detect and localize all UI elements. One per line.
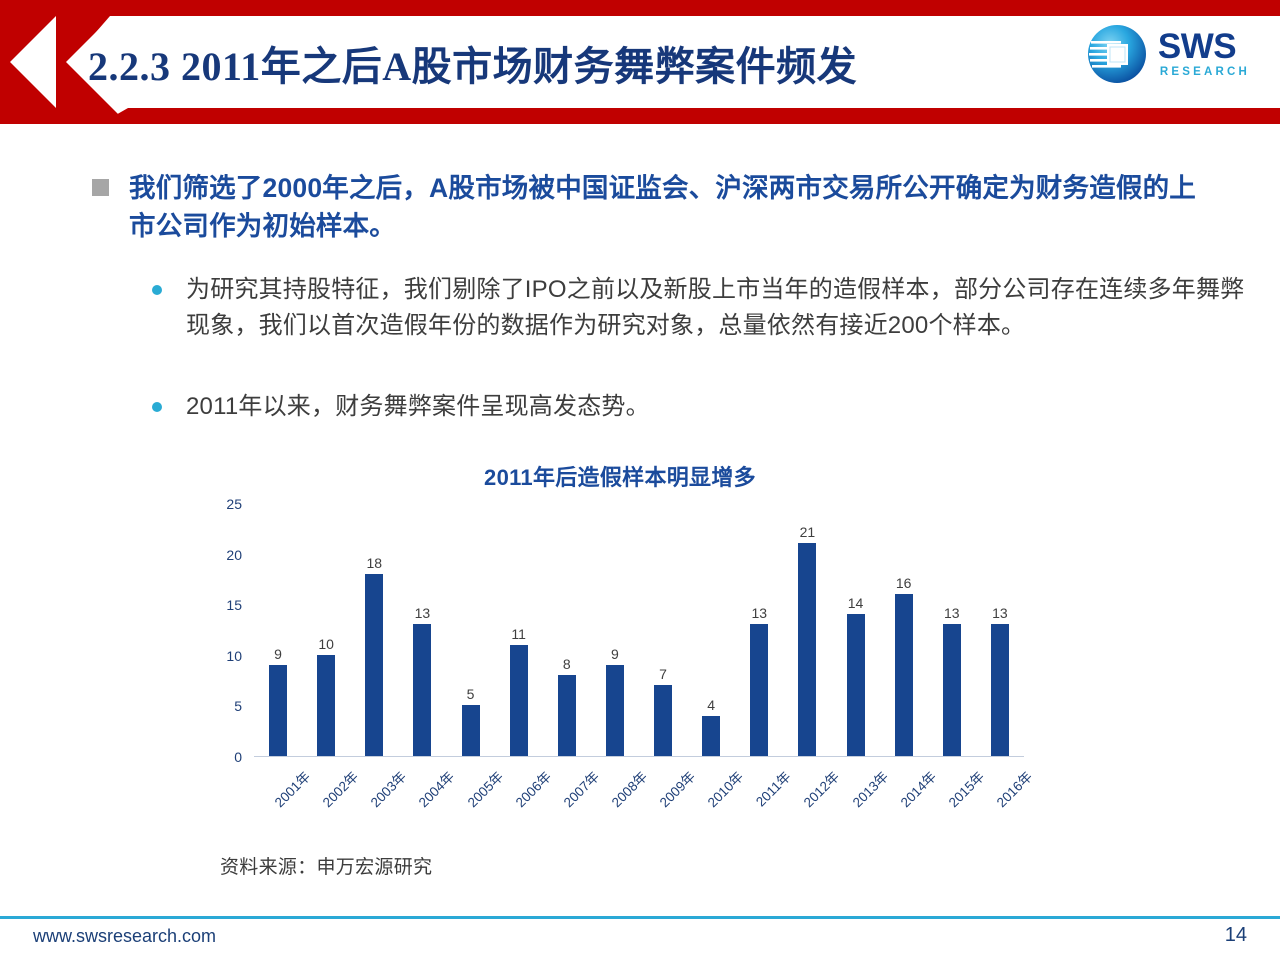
page-title: 2.2.3 2011年之后A股市场财务舞弊案件频发 bbox=[88, 34, 857, 92]
slide-header: 2.2.3 2011年之后A股市场财务舞弊案件频发 bbox=[0, 0, 1280, 124]
x-axis-tick-slot: 2015年 bbox=[928, 760, 976, 830]
chart-bar bbox=[365, 574, 383, 756]
chart-x-axis: 2001年2002年2003年2004年2005年2006年2007年2008年… bbox=[254, 760, 1024, 830]
bar-value-label: 13 bbox=[752, 606, 768, 620]
chart-bar-column: 13 bbox=[735, 504, 783, 756]
chart-bar bbox=[847, 614, 865, 756]
square-bullet-icon bbox=[92, 179, 109, 196]
primary-bullet-text: 我们筛选了2000年之后，A股市场被中国证监会、沪深两市交易所公开确定为财务造假… bbox=[129, 170, 1199, 245]
x-axis-tick-slot: 2011年 bbox=[735, 760, 783, 830]
chart-plot-area: 0510152025 91018135118974132114161313 20… bbox=[210, 504, 1030, 794]
chart-bar bbox=[317, 655, 335, 756]
chart-bar bbox=[413, 624, 431, 756]
bar-value-label: 13 bbox=[992, 606, 1008, 620]
x-axis-tick-slot: 2006年 bbox=[495, 760, 543, 830]
chart-bar-column: 7 bbox=[639, 504, 687, 756]
secondary-bullet-1: 为研究其持股特征，我们剔除了IPO之前以及新股上市当年的造假样本，部分公司存在连… bbox=[152, 272, 1246, 344]
bar-value-label: 7 bbox=[659, 667, 667, 681]
chart-bar bbox=[510, 645, 528, 756]
bar-chart: 2011年后造假样本明显增多 0510152025 91018135118974… bbox=[210, 460, 1030, 794]
x-axis-tick-slot: 2001年 bbox=[254, 760, 302, 830]
chart-bar bbox=[943, 624, 961, 756]
x-axis-tick-slot: 2008年 bbox=[591, 760, 639, 830]
chart-bar-column: 13 bbox=[398, 504, 446, 756]
x-axis-tick-slot: 2013年 bbox=[832, 760, 880, 830]
secondary-bullet-2: 2011年以来，财务舞弊案件呈现高发态势。 bbox=[152, 389, 650, 425]
y-axis-tick: 15 bbox=[210, 597, 242, 613]
x-axis-tick-slot: 2010年 bbox=[687, 760, 735, 830]
bar-value-label: 5 bbox=[467, 687, 475, 701]
chart-bar-column: 14 bbox=[832, 504, 880, 756]
chart-bar bbox=[750, 624, 768, 756]
chart-bar-column: 11 bbox=[495, 504, 543, 756]
chart-bar-column: 10 bbox=[302, 504, 350, 756]
dot-bullet-icon bbox=[152, 402, 162, 412]
chart-bar-column: 21 bbox=[783, 504, 831, 756]
bar-value-label: 11 bbox=[511, 627, 526, 641]
logo-subtitle: RESEARCH bbox=[1158, 67, 1250, 79]
dot-bullet-icon bbox=[152, 285, 162, 295]
chart-bar-column: 13 bbox=[928, 504, 976, 756]
chart-bar bbox=[702, 716, 720, 756]
chart-bar bbox=[895, 594, 913, 756]
x-axis-tick-slot: 2002年 bbox=[302, 760, 350, 830]
x-axis-tick-slot: 2004年 bbox=[398, 760, 446, 830]
x-axis-tick-slot: 2014年 bbox=[880, 760, 928, 830]
page-number: 14 bbox=[1225, 924, 1247, 947]
chart-bar bbox=[991, 624, 1009, 756]
bar-value-label: 4 bbox=[707, 698, 715, 712]
x-axis-tick-slot: 2009年 bbox=[639, 760, 687, 830]
chart-bar bbox=[798, 543, 816, 756]
bar-value-label: 10 bbox=[318, 637, 334, 651]
chart-bar bbox=[462, 705, 480, 756]
bar-value-label: 16 bbox=[896, 576, 912, 590]
bar-value-label: 18 bbox=[367, 556, 383, 570]
bar-value-label: 21 bbox=[800, 525, 816, 539]
chart-bar bbox=[558, 675, 576, 756]
chart-bar-column: 16 bbox=[880, 504, 928, 756]
source-note: 资料来源：申万宏源研究 bbox=[220, 852, 432, 879]
x-axis-tick-slot: 2005年 bbox=[447, 760, 495, 830]
y-axis-tick: 5 bbox=[210, 698, 242, 714]
chart-bar-column: 18 bbox=[350, 504, 398, 756]
chart-bar-column: 9 bbox=[591, 504, 639, 756]
chart-bar-column: 8 bbox=[543, 504, 591, 756]
chart-bar bbox=[606, 665, 624, 756]
chart-bar bbox=[269, 665, 287, 756]
bar-value-label: 13 bbox=[415, 606, 431, 620]
bar-value-label: 9 bbox=[274, 647, 282, 661]
x-axis-tick-label: 2016年 bbox=[991, 766, 1036, 811]
bar-value-label: 14 bbox=[848, 596, 864, 610]
y-axis-tick: 10 bbox=[210, 648, 242, 664]
bar-value-label: 9 bbox=[611, 647, 619, 661]
chart-bar bbox=[654, 685, 672, 756]
chart-bar-column: 9 bbox=[254, 504, 302, 756]
chart-bars-container: 91018135118974132114161313 bbox=[254, 504, 1024, 757]
x-axis-tick-slot: 2016年 bbox=[976, 760, 1024, 830]
secondary-bullet-1-text: 为研究其持股特征，我们剔除了IPO之前以及新股上市当年的造假样本，部分公司存在连… bbox=[186, 272, 1246, 344]
x-axis-tick-slot: 2012年 bbox=[783, 760, 831, 830]
sws-globe-icon bbox=[1085, 22, 1149, 86]
y-axis-tick: 20 bbox=[210, 547, 242, 563]
bar-value-label: 13 bbox=[944, 606, 960, 620]
chart-title: 2011年后造假样本明显增多 bbox=[280, 460, 960, 492]
footer-divider bbox=[0, 916, 1280, 919]
y-axis-tick: 25 bbox=[210, 496, 242, 512]
x-axis-tick-slot: 2003年 bbox=[350, 760, 398, 830]
chart-bar-column: 13 bbox=[976, 504, 1024, 756]
chart-bar-column: 4 bbox=[687, 504, 735, 756]
chart-bar-column: 5 bbox=[447, 504, 495, 756]
y-axis-tick: 0 bbox=[210, 749, 242, 765]
footer-website-link[interactable]: www.swsresearch.com bbox=[33, 926, 216, 947]
primary-bullet: 我们筛选了2000年之后，A股市场被中国证监会、沪深两市交易所公开确定为财务造假… bbox=[92, 170, 1199, 245]
x-axis-tick-slot: 2007年 bbox=[543, 760, 591, 830]
sws-research-logo: SWS RESEARCH bbox=[1085, 22, 1250, 86]
secondary-bullet-2-text: 2011年以来，财务舞弊案件呈现高发态势。 bbox=[186, 389, 650, 425]
chart-y-axis: 0510152025 bbox=[210, 504, 248, 757]
bar-value-label: 8 bbox=[563, 657, 571, 671]
logo-wordmark: SWS bbox=[1158, 29, 1250, 64]
